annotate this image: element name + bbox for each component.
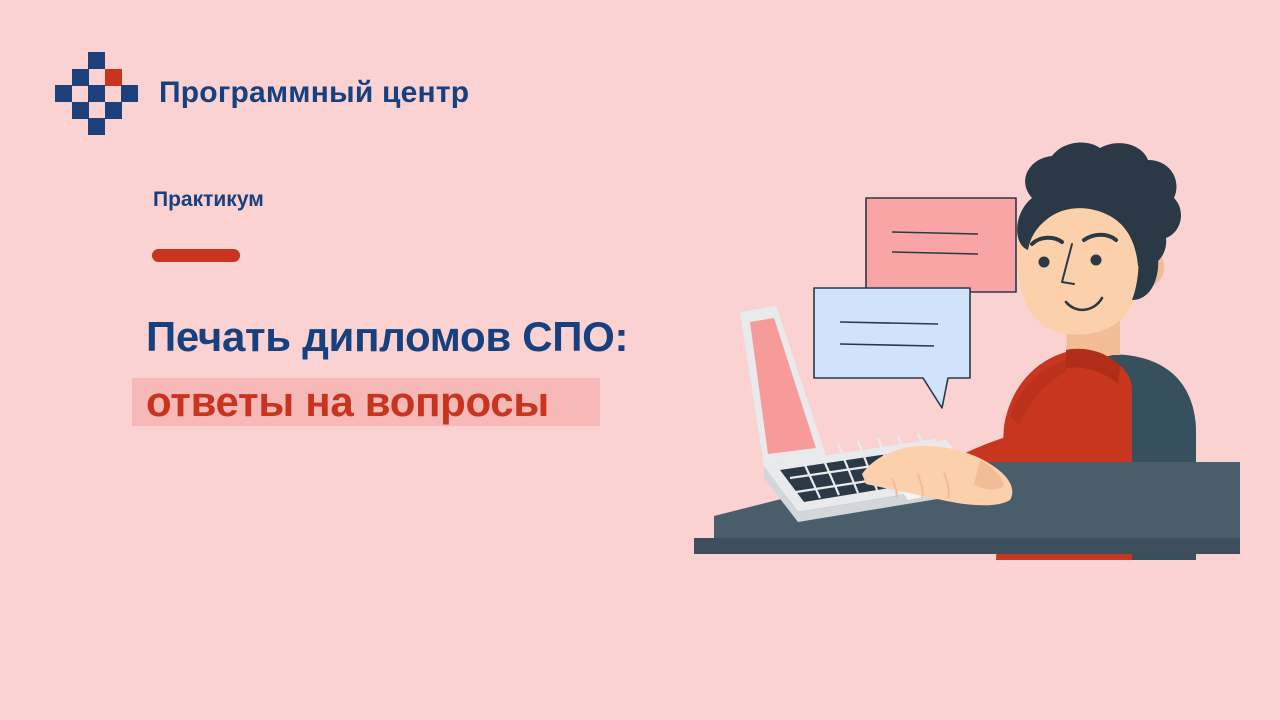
brand-name: Программный центр bbox=[159, 76, 469, 110]
eye-left bbox=[1039, 257, 1050, 268]
slide-canvas: Программный центр Практикум Печать дипло… bbox=[0, 0, 1280, 720]
eyebrow-label: Практикум bbox=[153, 188, 264, 212]
brand-header: Программный центр bbox=[55, 52, 469, 134]
accent-divider bbox=[152, 249, 240, 262]
illustration-man-at-laptop bbox=[680, 140, 1240, 570]
eye-right bbox=[1091, 255, 1102, 266]
page-title-line-2-highlight: ответы на вопросы bbox=[132, 378, 600, 426]
company-logo-icon bbox=[55, 52, 137, 134]
page-title-line-1: Печать дипломов СПО: bbox=[146, 313, 628, 361]
desk-edge bbox=[694, 538, 1240, 554]
page-title-line-2: ответы на вопросы bbox=[132, 378, 549, 426]
blue-speech-bubble bbox=[814, 288, 970, 408]
